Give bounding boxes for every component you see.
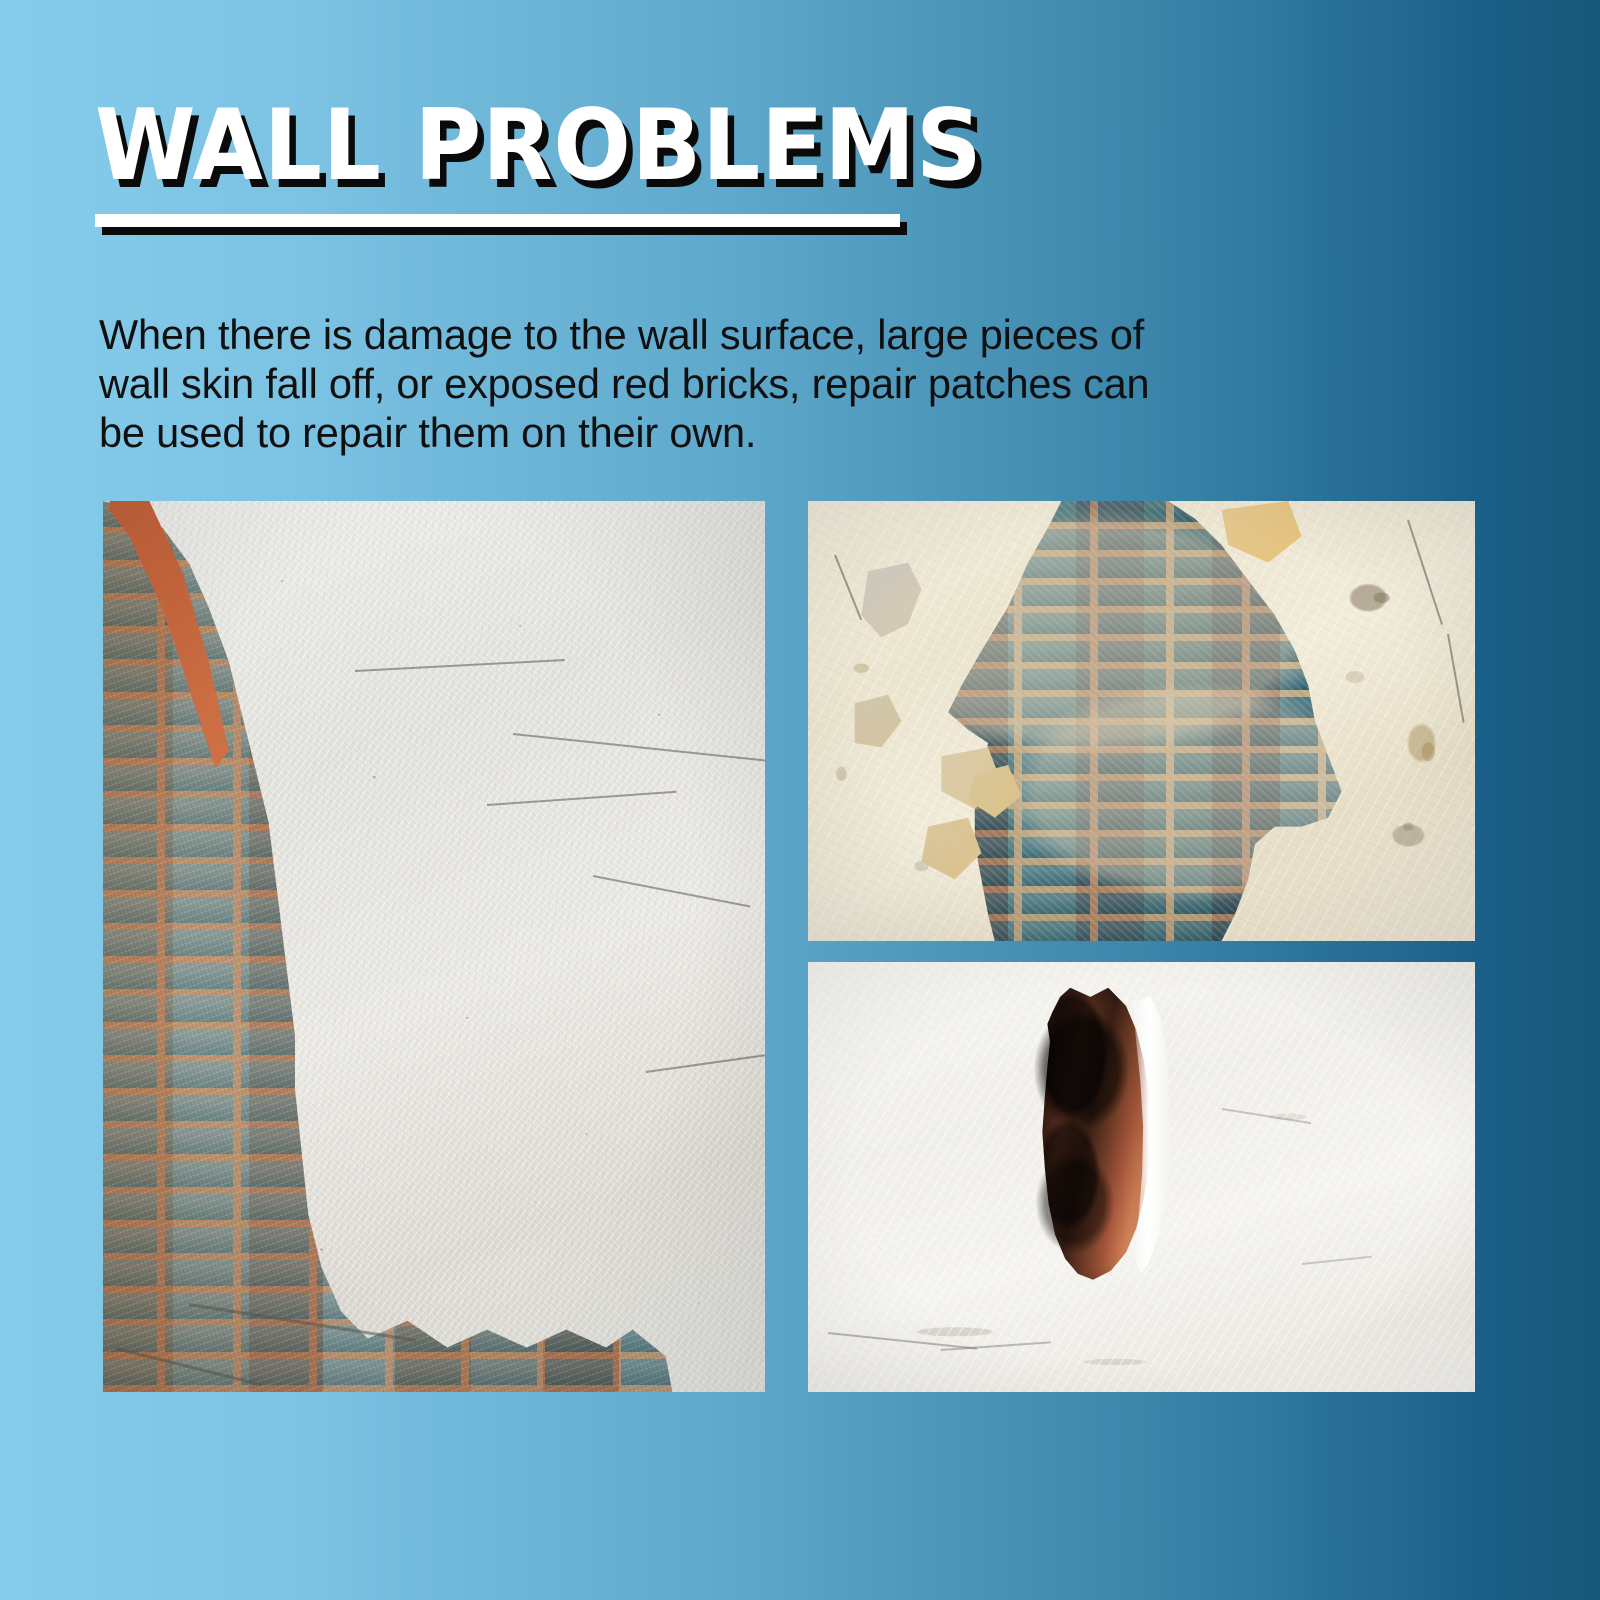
title-underline-rule bbox=[95, 214, 907, 238]
photo-cream-wall-exposed-brick-patch bbox=[808, 501, 1475, 941]
photo-vignette bbox=[808, 962, 1475, 1392]
photo-brick-wall-large-plaster-loss bbox=[103, 501, 765, 1392]
photo-vignette bbox=[103, 501, 765, 1392]
photo-vignette bbox=[808, 501, 1475, 941]
title-block: WALL PROBLEMS bbox=[95, 96, 1095, 196]
page-title: WALL PROBLEMS bbox=[95, 96, 1025, 196]
wall-problems-poster: WALL PROBLEMS When there is damage to th… bbox=[0, 0, 1600, 1600]
body-paragraph: When there is damage to the wall surface… bbox=[99, 310, 1189, 457]
title-underline-bar bbox=[95, 214, 900, 227]
photo-white-wall-knocked-through-hole bbox=[808, 962, 1475, 1392]
